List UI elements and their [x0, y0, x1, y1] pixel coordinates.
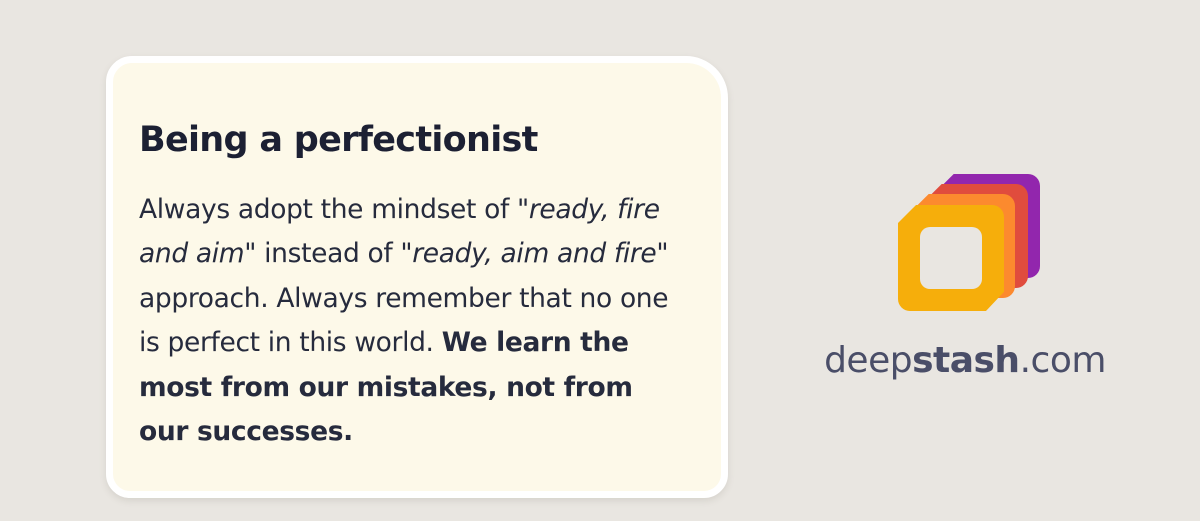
- quote-segment-text: Always adopt the mindset of ": [139, 194, 529, 225]
- quote-title: Being a perfectionist: [139, 121, 689, 160]
- quote-segment-text-2: " instead of ": [244, 238, 412, 269]
- deepstash-logo-icon: [890, 168, 1040, 318]
- brand-name-part-stash: stash: [912, 340, 1020, 381]
- brand-block: deepstash.com: [800, 160, 1130, 400]
- quote-segment-italic-2: ready, aim and fire: [412, 238, 656, 269]
- quote-body: Always adopt the mindset of "ready, fire…: [139, 160, 689, 455]
- brand-name-part-deep: deep: [824, 340, 912, 381]
- brand-wordmark: deepstash.com: [800, 318, 1130, 381]
- logo-center-cutout-icon: [920, 227, 982, 289]
- brand-name-part-tld: .com: [1020, 340, 1106, 381]
- poster-canvas: Being a perfectionist Always adopt the m…: [0, 0, 1200, 521]
- quote-card: Being a perfectionist Always adopt the m…: [106, 56, 728, 498]
